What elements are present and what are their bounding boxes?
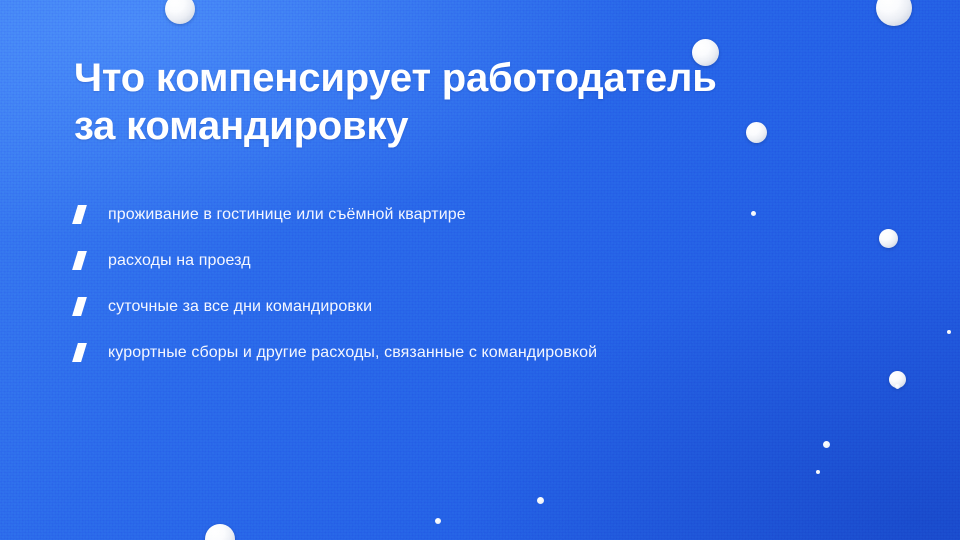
sphere-top-right — [876, 0, 912, 26]
sphere-bottom-center — [205, 524, 235, 540]
dot-far-right — [947, 330, 951, 334]
list-item: суточные за все дни командировки — [74, 284, 894, 330]
slide-content: Что компенсирует работодатель за команди… — [74, 54, 894, 150]
list-item-label: расходы на проезд — [108, 251, 251, 271]
slash-marker-icon — [72, 251, 87, 270]
list-item: курортные сборы и другие расходы, связан… — [74, 330, 894, 376]
dot-bottom-right — [816, 470, 820, 474]
slide-title: Что компенсирует работодатель за команди… — [74, 54, 894, 150]
presentation-slide: Что компенсирует работодатель за команди… — [0, 0, 960, 540]
slash-marker-icon — [72, 297, 87, 316]
list-item: проживание в гостинице или съёмной кварт… — [74, 192, 894, 238]
dot-right-c — [895, 384, 900, 389]
slash-marker-icon — [72, 343, 87, 362]
dot-mid-low — [537, 497, 544, 504]
slash-marker-icon — [72, 205, 87, 224]
dot-right-b — [823, 441, 830, 448]
bullet-list: проживание в гостинице или съёмной кварт… — [74, 192, 894, 376]
list-item-label: курортные сборы и другие расходы, связан… — [108, 343, 597, 363]
list-item-label: проживание в гостинице или съёмной кварт… — [108, 205, 466, 225]
dot-lower-left — [435, 518, 441, 524]
list-item: расходы на проезд — [74, 238, 894, 284]
list-item-label: суточные за все дни командировки — [108, 297, 372, 317]
sphere-top-left — [165, 0, 195, 24]
